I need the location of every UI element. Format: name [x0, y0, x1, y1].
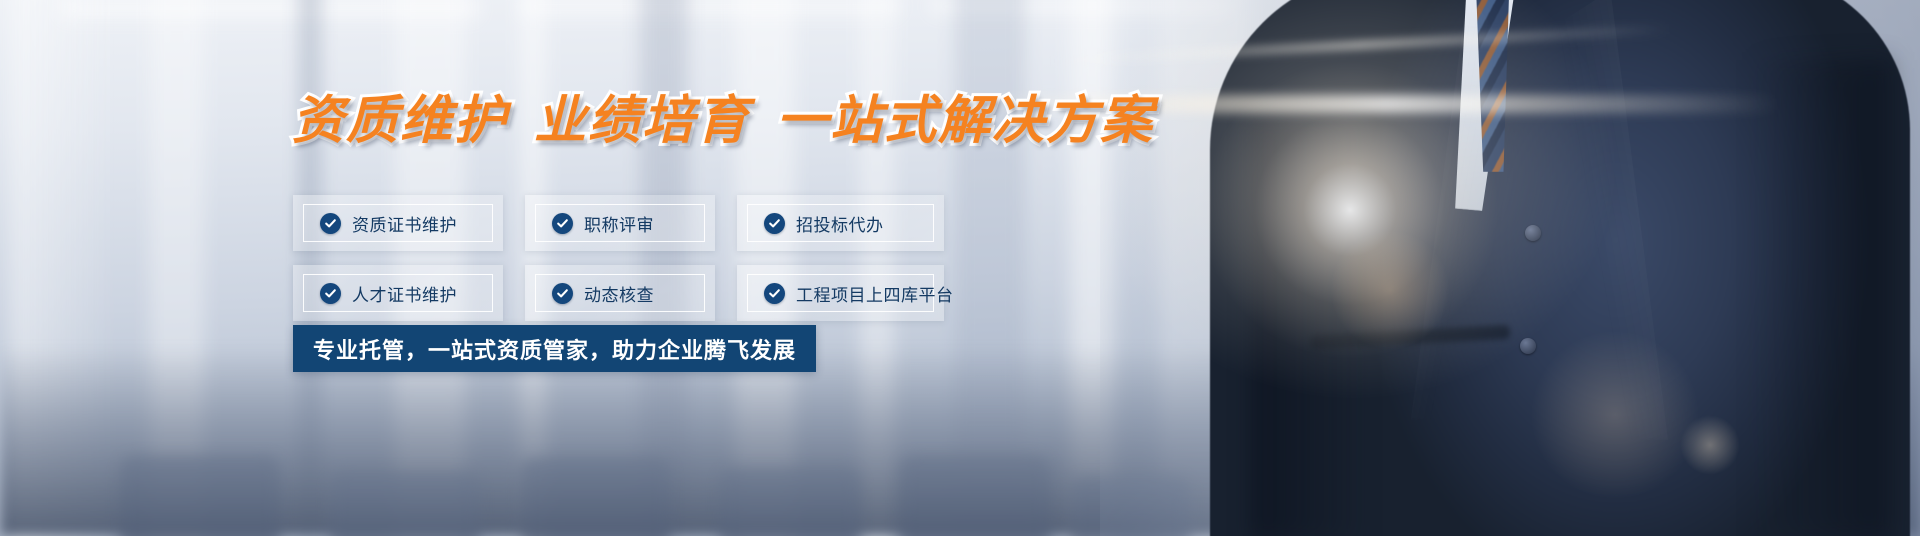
feature-label: 招投标代办 [796, 211, 884, 236]
promo-banner: 资质维护业绩培育一站式解决方案 资质证书维护 [0, 0, 1920, 536]
feature-item-talent-certificate-maintenance[interactable]: 人才证书维护 [293, 265, 503, 321]
feature-label: 工程项目上四库平台 [796, 281, 954, 306]
headline: 资质维护业绩培育一站式解决方案 [292, 78, 1154, 153]
feature-item-dynamic-verification[interactable]: 动态核查 [525, 265, 715, 321]
tagline-text: 专业托管，一站式资质管家，助力企业腾飞发展 [313, 333, 796, 365]
headline-part-2: 业绩培育 [534, 91, 750, 151]
tagline-bar: 专业托管，一站式资质管家，助力企业腾飞发展 [293, 325, 816, 372]
headline-part-1: 资质维护 [292, 91, 508, 151]
check-circle-icon [552, 283, 573, 304]
feature-grid: 资质证书维护 职称评审 招投 [293, 195, 973, 335]
feature-label: 人才证书维护 [352, 281, 457, 306]
banner-content: 资质维护业绩培育一站式解决方案 资质证书维护 [0, 0, 1920, 536]
feature-item-bidding-agency[interactable]: 招投标代办 [737, 195, 944, 251]
check-circle-icon [320, 213, 341, 234]
feature-label: 资质证书维护 [352, 211, 457, 236]
feature-label: 职称评审 [584, 211, 654, 236]
feature-label: 动态核查 [584, 281, 654, 306]
check-circle-icon [320, 283, 341, 304]
headline-part-3: 一站式解决方案 [776, 91, 1154, 151]
feature-row-2: 人才证书维护 动态核查 工程 [293, 265, 973, 321]
feature-item-title-evaluation[interactable]: 职称评审 [525, 195, 715, 251]
feature-item-four-database-platform[interactable]: 工程项目上四库平台 [737, 265, 944, 321]
check-circle-icon [764, 213, 785, 234]
feature-item-qualification-certificate-maintenance[interactable]: 资质证书维护 [293, 195, 503, 251]
feature-row-1: 资质证书维护 职称评审 招投 [293, 195, 973, 251]
check-circle-icon [552, 213, 573, 234]
check-circle-icon [764, 283, 785, 304]
